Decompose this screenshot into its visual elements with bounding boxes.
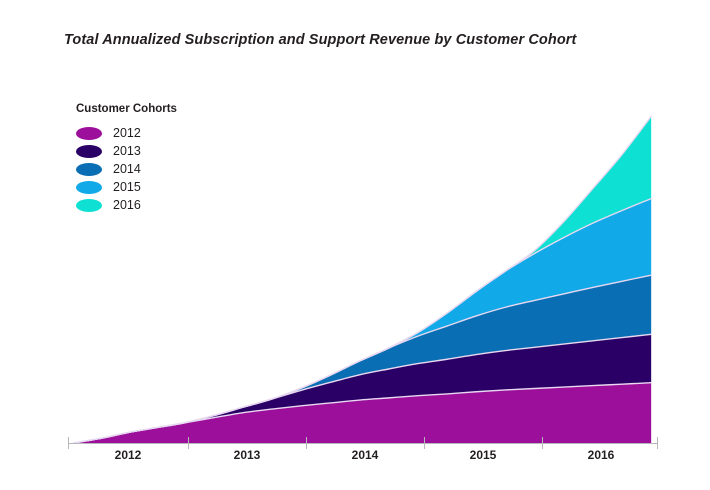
- x-tick-label-2014: 2014: [352, 448, 379, 462]
- stacked-area-plot: 20122013201420152016: [0, 0, 710, 490]
- chart-container: Total Annualized Subscription and Suppor…: [0, 0, 710, 490]
- x-tick-label-2012: 2012: [115, 448, 142, 462]
- x-tick-label-2015: 2015: [470, 448, 497, 462]
- x-tick-label-2013: 2013: [234, 448, 261, 462]
- x-axis-tick-labels: 20122013201420152016: [115, 448, 615, 462]
- area-bands: [74, 116, 651, 443]
- x-tick-label-2016: 2016: [588, 448, 615, 462]
